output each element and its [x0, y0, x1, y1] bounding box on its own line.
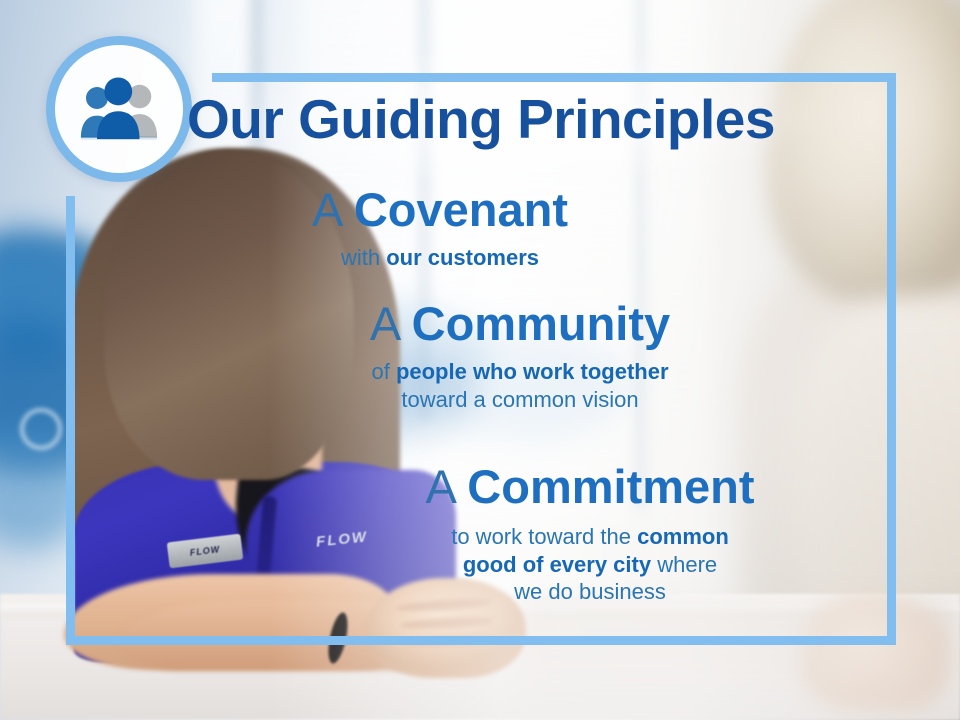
plain-text: where [651, 552, 717, 577]
plain-text: with [341, 245, 386, 270]
principle-subtext-line: we do business [300, 578, 880, 606]
principle-article: A [425, 460, 454, 513]
principle-block-community: A Community of people who work togethert… [230, 300, 810, 413]
emphasis-text: people who work together [396, 359, 669, 384]
principle-subtext-line: with our customers [150, 244, 730, 272]
guiding-principles-graphic: FLOW FLOW [0, 0, 960, 720]
principle-article: A [312, 183, 341, 236]
plain-text: we do business [514, 579, 666, 604]
principle-article: A [370, 297, 399, 350]
principle-subtext: to work toward the commongood of every c… [300, 523, 880, 606]
principle-block-commitment: A Commitment to work toward the commongo… [300, 463, 880, 606]
page-title: Our Guiding Principles [66, 92, 896, 147]
background-emblem [20, 408, 62, 450]
principle-subtext: of people who work togethertoward a comm… [230, 358, 810, 413]
principle-subtext-line: to work toward the common [300, 523, 880, 551]
plain-text: to work toward the [451, 524, 637, 549]
principle-block-covenant: A Covenant with our customers [150, 186, 730, 272]
employee-name-badge-text: FLOW [189, 544, 220, 558]
principle-subtext: with our customers [150, 244, 730, 272]
principle-subtext-line: toward a common vision [230, 386, 810, 414]
principle-heading: A Commitment [300, 463, 880, 511]
emphasis-text: common [637, 524, 729, 549]
principle-keyword: Covenant [354, 183, 568, 236]
principle-keyword: Commitment [467, 460, 754, 513]
principle-subtext-line: good of every city where [300, 551, 880, 579]
principle-heading: A Community [230, 300, 810, 348]
customer-hair [766, 0, 960, 304]
plain-text: of [371, 359, 395, 384]
emphasis-text: our customers [386, 245, 539, 270]
customer-hand [800, 592, 950, 712]
principle-keyword: Community [412, 297, 671, 350]
emphasis-text: good of every city [463, 552, 651, 577]
plain-text: toward a common vision [401, 387, 638, 412]
principle-heading: A Covenant [150, 186, 730, 234]
principle-subtext-line: of people who work together [230, 358, 810, 386]
